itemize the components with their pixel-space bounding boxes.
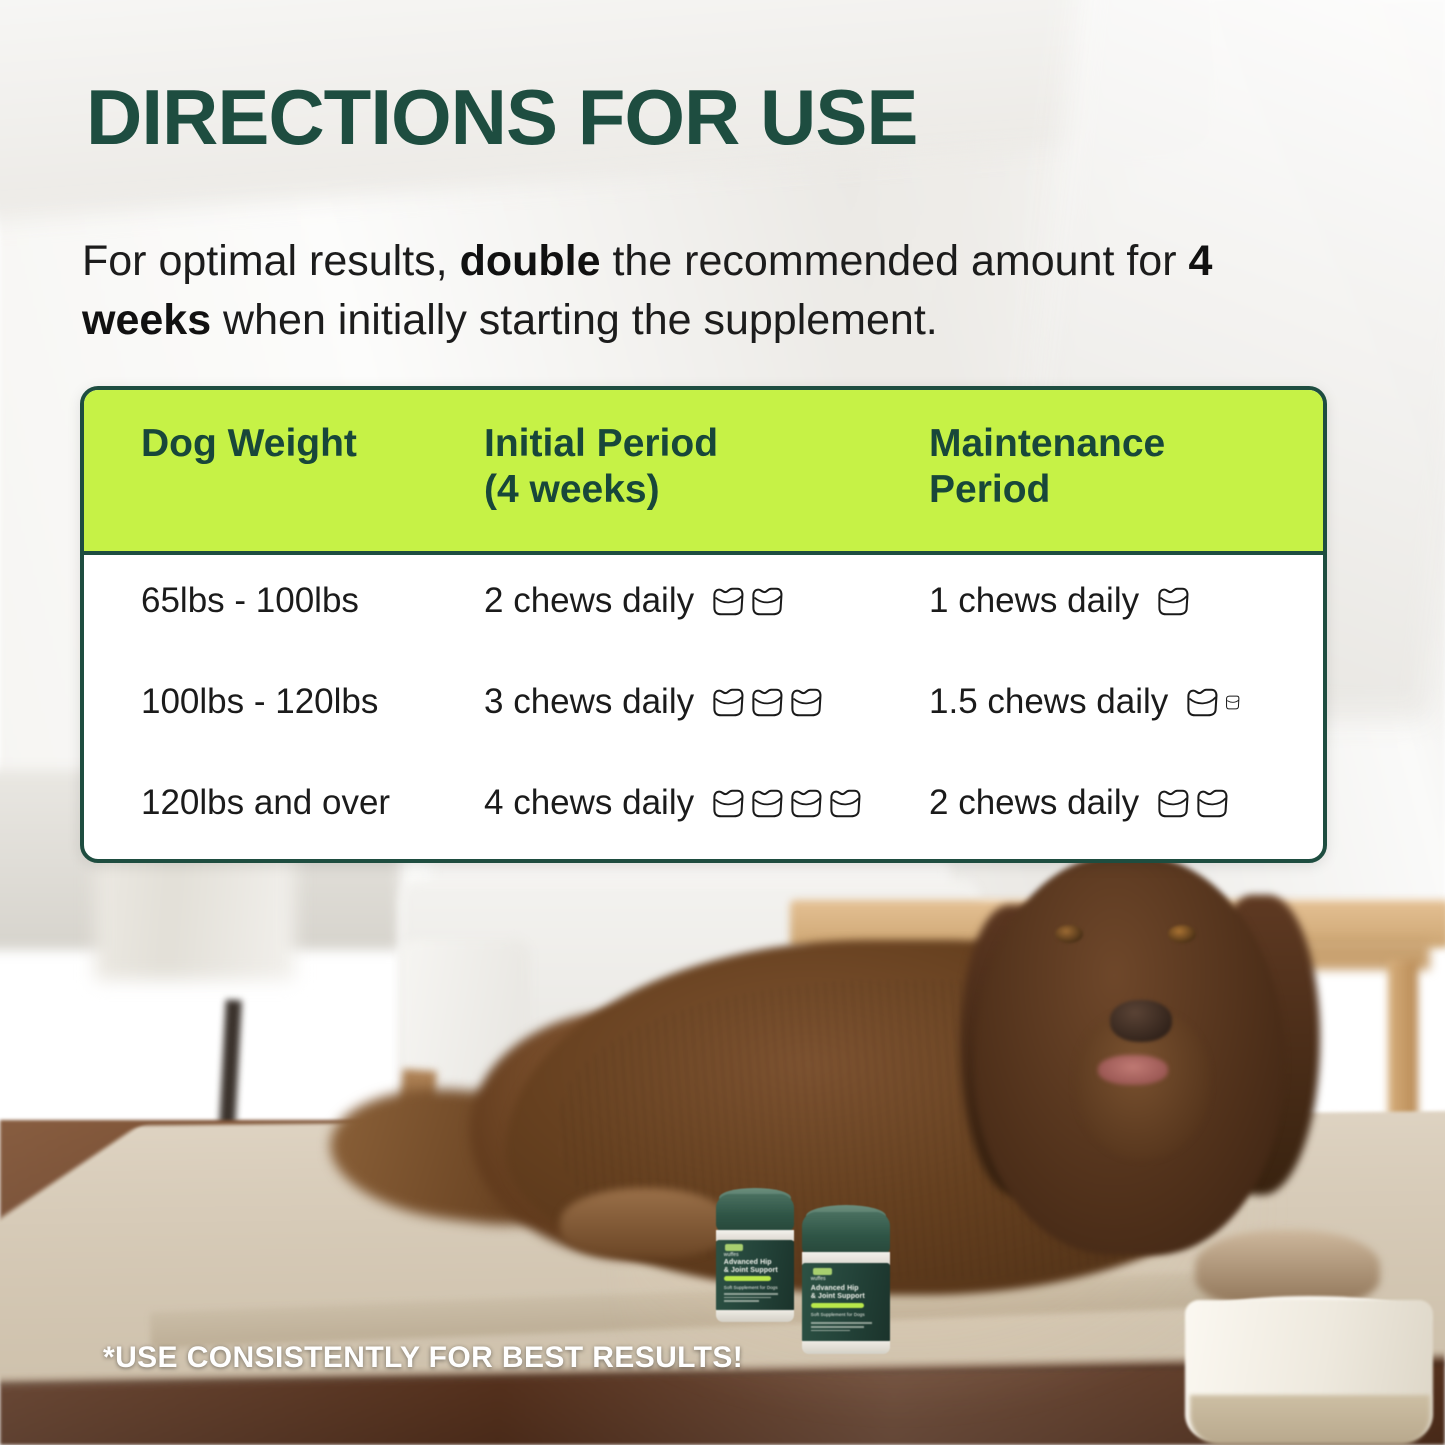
cell-initial-dose: 4 chews daily — [484, 783, 862, 823]
chew-icon — [711, 789, 745, 818]
chew-icon — [711, 688, 745, 717]
chew-icon-group — [711, 789, 862, 818]
chew-icon-group — [711, 587, 784, 616]
column-header-line1: Dog Weight — [141, 422, 357, 465]
cell-initial-dose-label: 3 chews daily — [484, 682, 694, 722]
column-header-initial-period: Initial Period (4 weeks) — [484, 421, 718, 512]
cell-initial-dose: 3 chews daily — [484, 682, 823, 722]
chew-icon — [750, 688, 784, 717]
footnote: *USE CONSISTENTLY FOR BEST RESULTS! — [103, 1341, 743, 1375]
dosage-table: Dog Weight Initial Period (4 weeks) Main… — [80, 386, 1327, 863]
chew-icon — [789, 688, 823, 717]
cell-maintenance-dose: 1 chews daily — [929, 581, 1190, 621]
subtitle-text: the recommended amount for — [601, 237, 1189, 285]
cell-dog-weight: 65lbs - 100lbs — [141, 581, 359, 621]
chew-icon — [1195, 789, 1229, 818]
chew-icon — [828, 789, 862, 818]
cell-dog-weight: 120lbs and over — [141, 783, 390, 823]
chew-icon-group — [1156, 587, 1190, 616]
chew-icon — [750, 587, 784, 616]
column-header-line1: Maintenance — [929, 422, 1165, 465]
chew-icon — [750, 789, 784, 818]
cell-maintenance-dose: 2 chews daily — [929, 783, 1229, 823]
cell-dog-weight: 100lbs - 120lbs — [141, 682, 378, 722]
cell-maintenance-dose: 1.5 chews daily — [929, 682, 1241, 722]
table-row: 120lbs and over 4 chews daily 2 chews da… — [84, 757, 1323, 858]
cell-initial-dose-label: 2 chews daily — [484, 581, 694, 621]
chew-icon — [1156, 587, 1190, 616]
subtitle-emphasis: double — [460, 237, 601, 285]
page-subtitle: For optimal results, double the recommen… — [82, 232, 1312, 351]
cell-maintenance-dose-label: 1 chews daily — [929, 581, 1139, 621]
cell-initial-dose-label: 4 chews daily — [484, 783, 694, 823]
column-header-line2: (4 weeks) — [484, 468, 660, 511]
chew-icon-group — [711, 688, 823, 717]
column-header-dog-weight: Dog Weight — [141, 421, 357, 467]
subtitle-text: when initially starting the supplement. — [211, 296, 938, 344]
column-header-maintenance-period: Maintenance Period — [929, 421, 1165, 512]
cell-maintenance-dose-label: 2 chews daily — [929, 783, 1139, 823]
chew-icon — [1185, 688, 1219, 717]
column-header-line1: Initial Period — [484, 422, 718, 465]
column-header-line2: Period — [929, 468, 1050, 511]
table-row: 100lbs - 120lbs 3 chews daily 1.5 chews … — [84, 656, 1323, 757]
chew-icon-group — [1156, 789, 1229, 818]
dosage-table-header-row: Dog Weight Initial Period (4 weeks) Main… — [84, 390, 1323, 555]
chew-icon-group — [1185, 688, 1241, 717]
chew-half-icon — [1224, 688, 1241, 717]
cell-maintenance-dose-label: 1.5 chews daily — [929, 682, 1168, 722]
cell-initial-dose: 2 chews daily — [484, 581, 784, 621]
chew-icon — [789, 789, 823, 818]
table-row: 65lbs - 100lbs 2 chews daily 1 chews dai… — [84, 555, 1323, 656]
page-title: DIRECTIONS FOR USE — [86, 78, 917, 156]
chew-icon — [711, 587, 745, 616]
chew-icon — [1156, 789, 1190, 818]
subtitle-text: For optimal results, — [82, 237, 460, 285]
